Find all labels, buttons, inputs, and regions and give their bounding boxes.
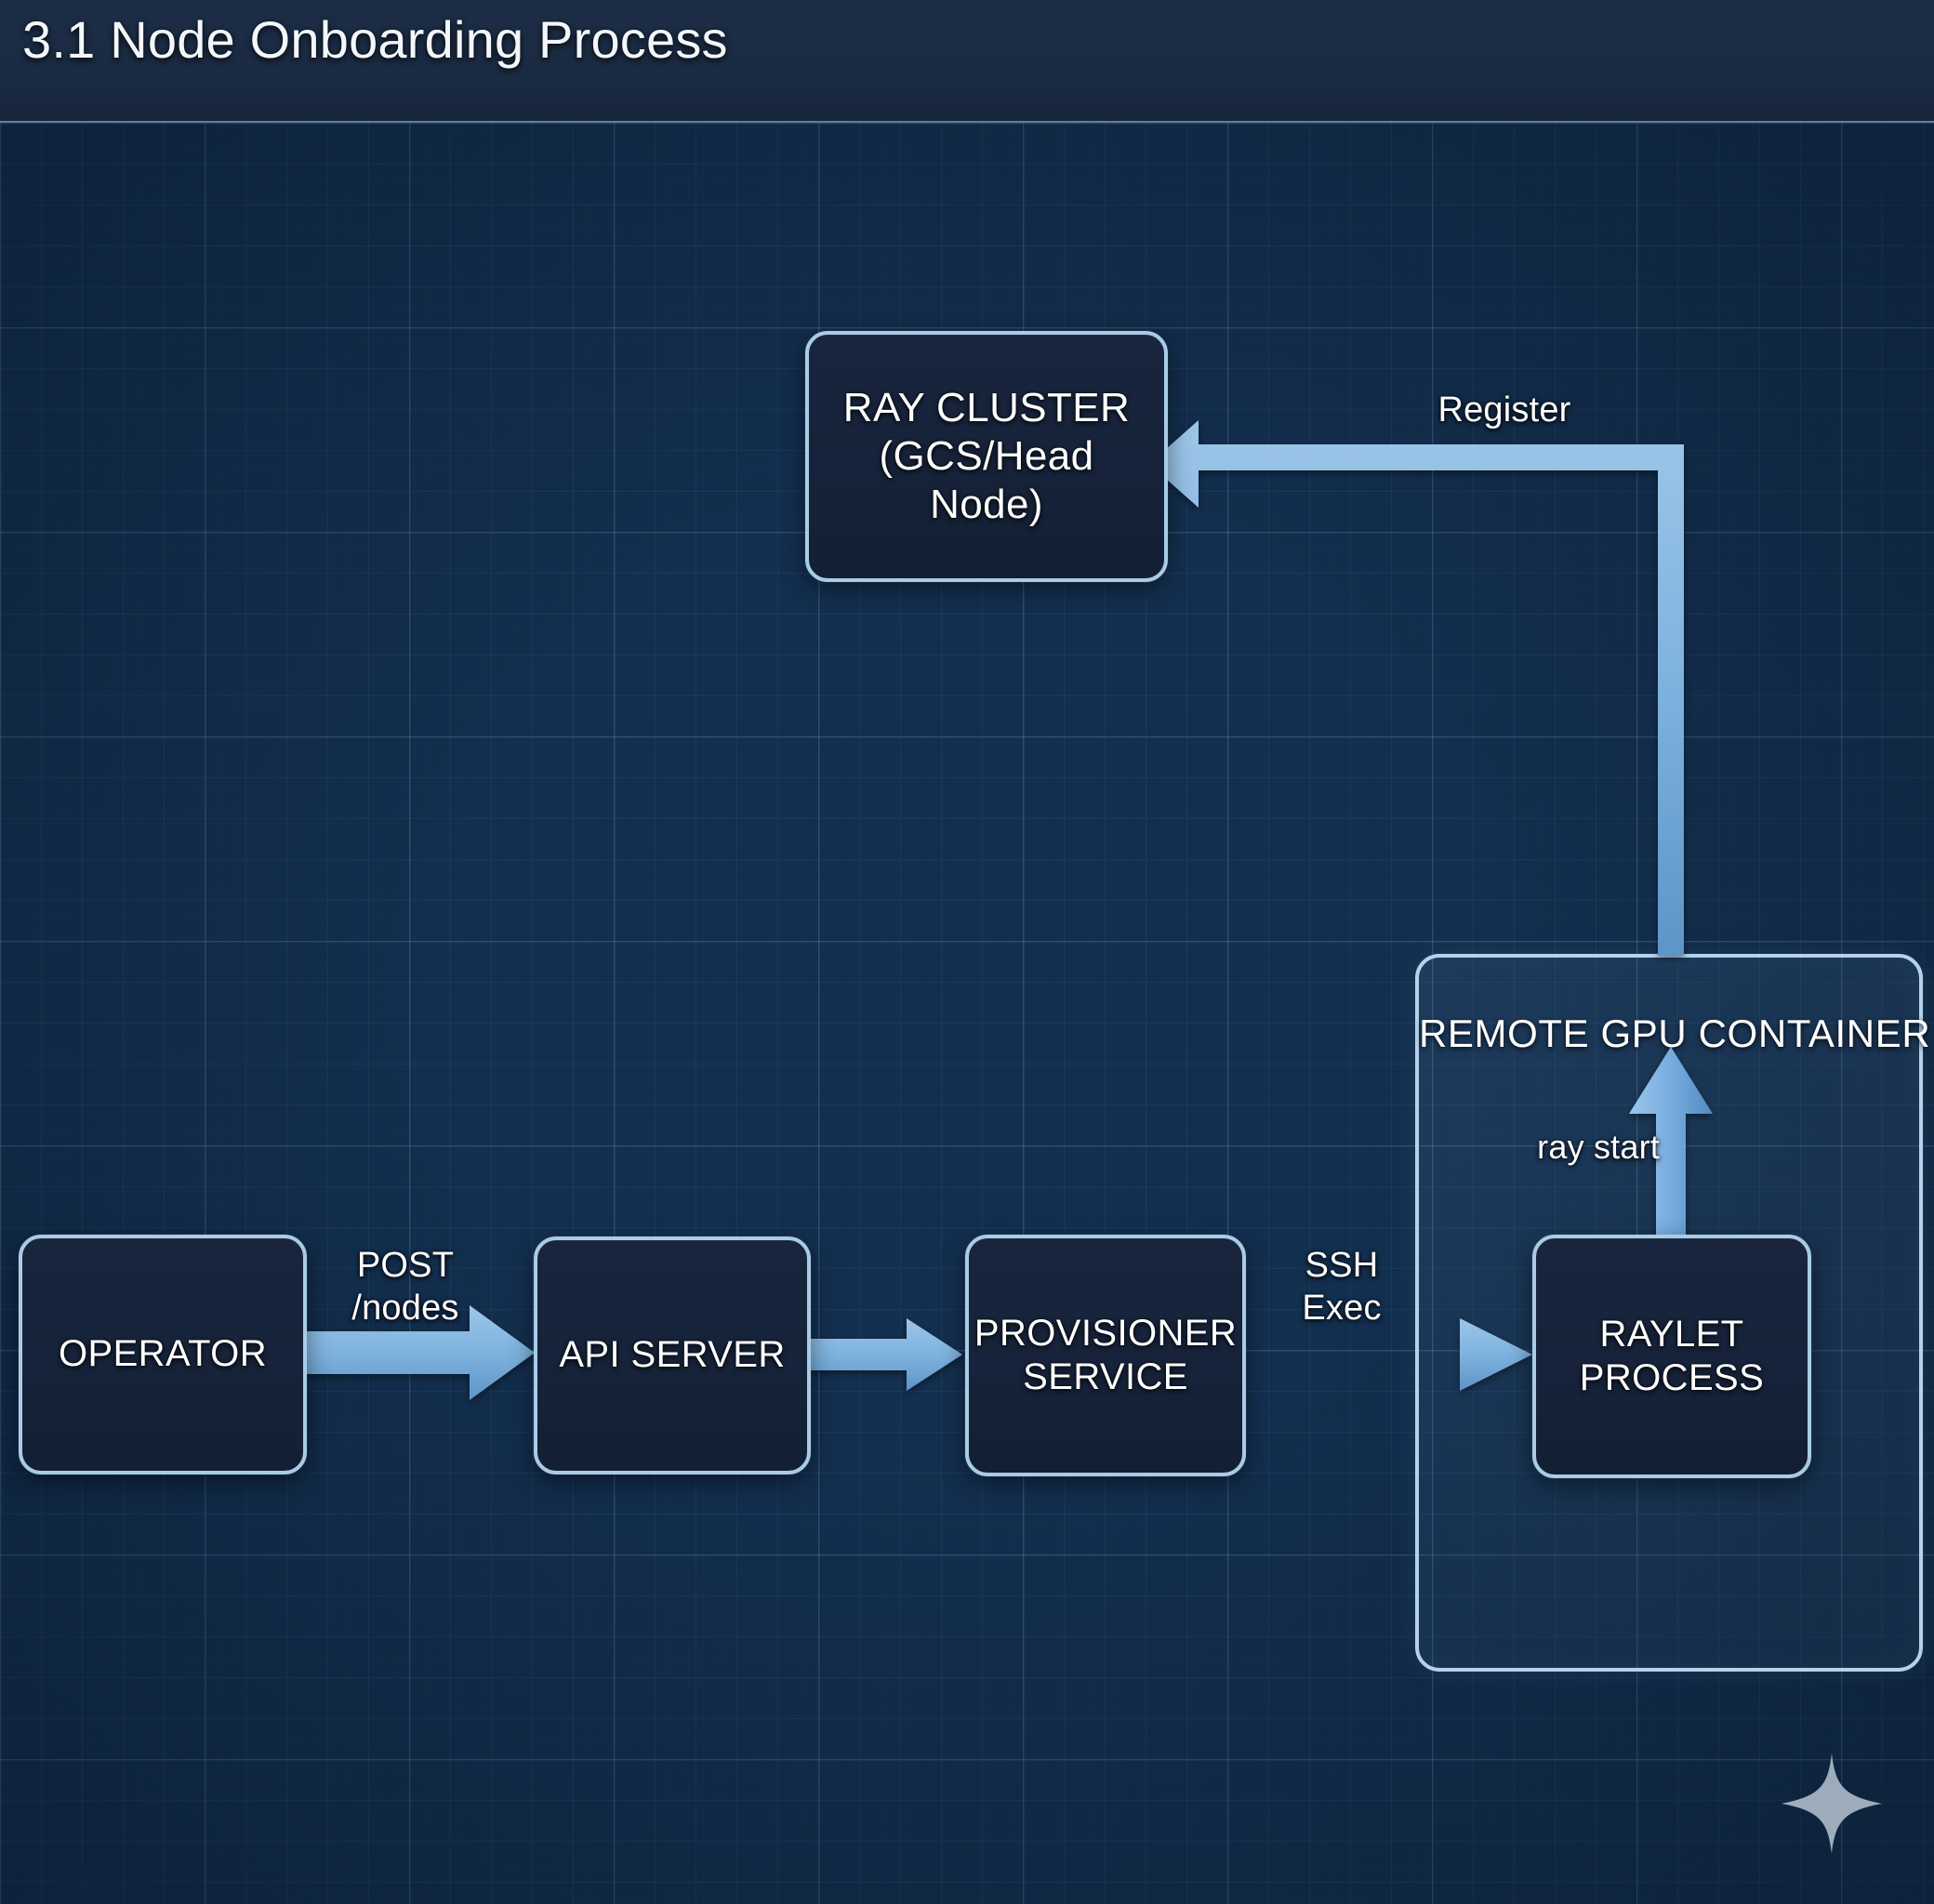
node-raylet-process-label: RAYLET PROCESS: [1570, 1313, 1773, 1400]
node-ray-cluster-label: RAY CLUSTER (GCS/Head Node): [809, 384, 1164, 529]
four-point-star-icon: [1776, 1748, 1888, 1859]
edge-label-post-nodes: POST /nodes: [324, 1244, 487, 1330]
edge-label-ssh-exec: SSH Exec: [1272, 1244, 1411, 1330]
node-operator[interactable]: OPERATOR: [19, 1235, 307, 1474]
node-ray-cluster[interactable]: RAY CLUSTER (GCS/Head Node): [805, 331, 1168, 582]
node-provisioner-service-label: PROVISIONER SERVICE: [965, 1312, 1246, 1399]
node-api-server-label: API SERVER: [550, 1333, 794, 1377]
node-api-server[interactable]: API SERVER: [534, 1236, 811, 1474]
remote-gpu-container-title: REMOTE GPU CONTAINER: [1419, 1011, 1919, 1056]
diagram-canvas: 3.1 Node Onboarding Process: [0, 0, 1934, 1904]
edge-label-register: Register: [1393, 389, 1616, 431]
title-bar: 3.1 Node Onboarding Process: [0, 0, 1934, 123]
node-operator-label: OPERATOR: [49, 1332, 276, 1376]
node-provisioner-service[interactable]: PROVISIONER SERVICE: [965, 1235, 1246, 1476]
node-raylet-process[interactable]: RAYLET PROCESS: [1532, 1235, 1811, 1478]
page-title: 3.1 Node Onboarding Process: [22, 9, 728, 70]
edge-label-ray-start: ray start: [1506, 1127, 1660, 1168]
